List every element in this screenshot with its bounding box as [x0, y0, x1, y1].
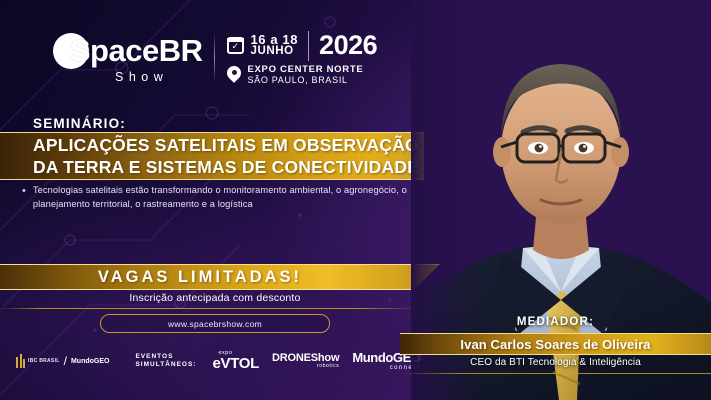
calendar-icon: [227, 37, 244, 54]
simultaneous-label-line-1: EVENTOS: [135, 353, 196, 361]
event-date-venue: 16 a 18 JUNHO 2026 EXPO CENTER NORTE SÃO…: [227, 31, 377, 86]
event-header: SpaceBR Show 16 a 18 JUNHO 2026 EXPO CEN…: [0, 22, 430, 94]
website-url-button[interactable]: www.spacebrshow.com: [100, 314, 330, 333]
logo-subtitle: Show: [115, 70, 168, 84]
bullet-text: Tecnologias satelitais estão transforman…: [33, 184, 432, 212]
event-month: JUNHO: [250, 46, 298, 58]
seminar-title-line-2: DA TERRA E SISTEMAS DE CONECTIVIDADE: [33, 156, 424, 178]
simultaneous-events-label: EVENTOS SIMULTÂNEOS:: [135, 353, 196, 369]
evtol-name: eVTOL: [212, 356, 259, 371]
droneshow-sub: robotics: [317, 364, 339, 369]
divider-rule: [0, 308, 420, 309]
event-venue: EXPO CENTER NORTE: [247, 65, 363, 76]
mediator-role: CEO da BTI Tecnologia & Inteligência: [400, 357, 711, 368]
mediator-label: MEDIADOR:: [400, 316, 711, 328]
sponsor-logo-list: expo eVTOL DRONEShow robotics MundoGEO c…: [212, 351, 420, 371]
sponsor-logo-droneshow[interactable]: DRONEShow robotics: [272, 353, 339, 370]
limited-seats-bar: VAGAS LIMITADAS!: [0, 264, 440, 290]
slash-divider-icon: /: [64, 354, 67, 368]
mediator-underline: [400, 373, 711, 374]
organizer-name: IBC BRASIL: [28, 358, 60, 364]
logo-wordmark: SpaceBR: [70, 35, 203, 66]
event-city: SÃO PAULO, BRASIL: [247, 75, 363, 85]
bullet-dot-icon: •: [22, 184, 26, 212]
date-separator: [308, 31, 309, 61]
event-banner: SpaceBR Show 16 a 18 JUNHO 2026 EXPO CEN…: [0, 0, 711, 400]
simultaneous-label-line-2: SIMULTÂNEOS:: [135, 361, 196, 369]
mediator-name: Ivan Carlos Soares de Oliveira: [460, 337, 650, 352]
website-url-label: www.spacebrshow.com: [168, 319, 262, 329]
seminar-bullets: • Tecnologias satelitais estão transform…: [22, 184, 432, 212]
seminar-kicker: SEMINÁRIO:: [33, 116, 126, 131]
seminar-title-line-1: APLICAÇÕES SATELITAIS EM OBSERVAÇÃO: [33, 134, 424, 156]
spacebr-logo[interactable]: SpaceBR Show: [53, 33, 203, 84]
mediator-name-bar: Ivan Carlos Soares de Oliveira: [400, 333, 711, 355]
seminar-title-band: APLICAÇÕES SATELITAIS EM OBSERVAÇÃO DA T…: [0, 132, 424, 180]
early-registration-note: Inscrição antecipada com desconto: [0, 292, 430, 304]
droneshow-name: DRONEShow: [272, 353, 339, 364]
organizer-logo[interactable]: IBC BRASIL / MundoGEO: [16, 354, 109, 368]
limited-seats-headline: VAGAS LIMITADAS!: [98, 268, 302, 287]
footer-sponsors: IBC BRASIL / MundoGEO EVENTOS SIMULTÂNEO…: [0, 346, 430, 376]
ibc-bars-mark-icon: [16, 354, 25, 368]
event-days: 16 a 18: [250, 33, 298, 46]
header-divider: [214, 33, 215, 83]
organizer-partner: MundoGEO: [71, 358, 110, 365]
sponsor-logo-evtol[interactable]: expo eVTOL: [212, 351, 259, 371]
map-pin-icon: [227, 66, 241, 84]
event-year: 2026: [319, 32, 377, 59]
limited-seats-banner: VAGAS LIMITADAS!: [0, 264, 440, 290]
list-item: • Tecnologias satelitais estão transform…: [22, 184, 432, 212]
